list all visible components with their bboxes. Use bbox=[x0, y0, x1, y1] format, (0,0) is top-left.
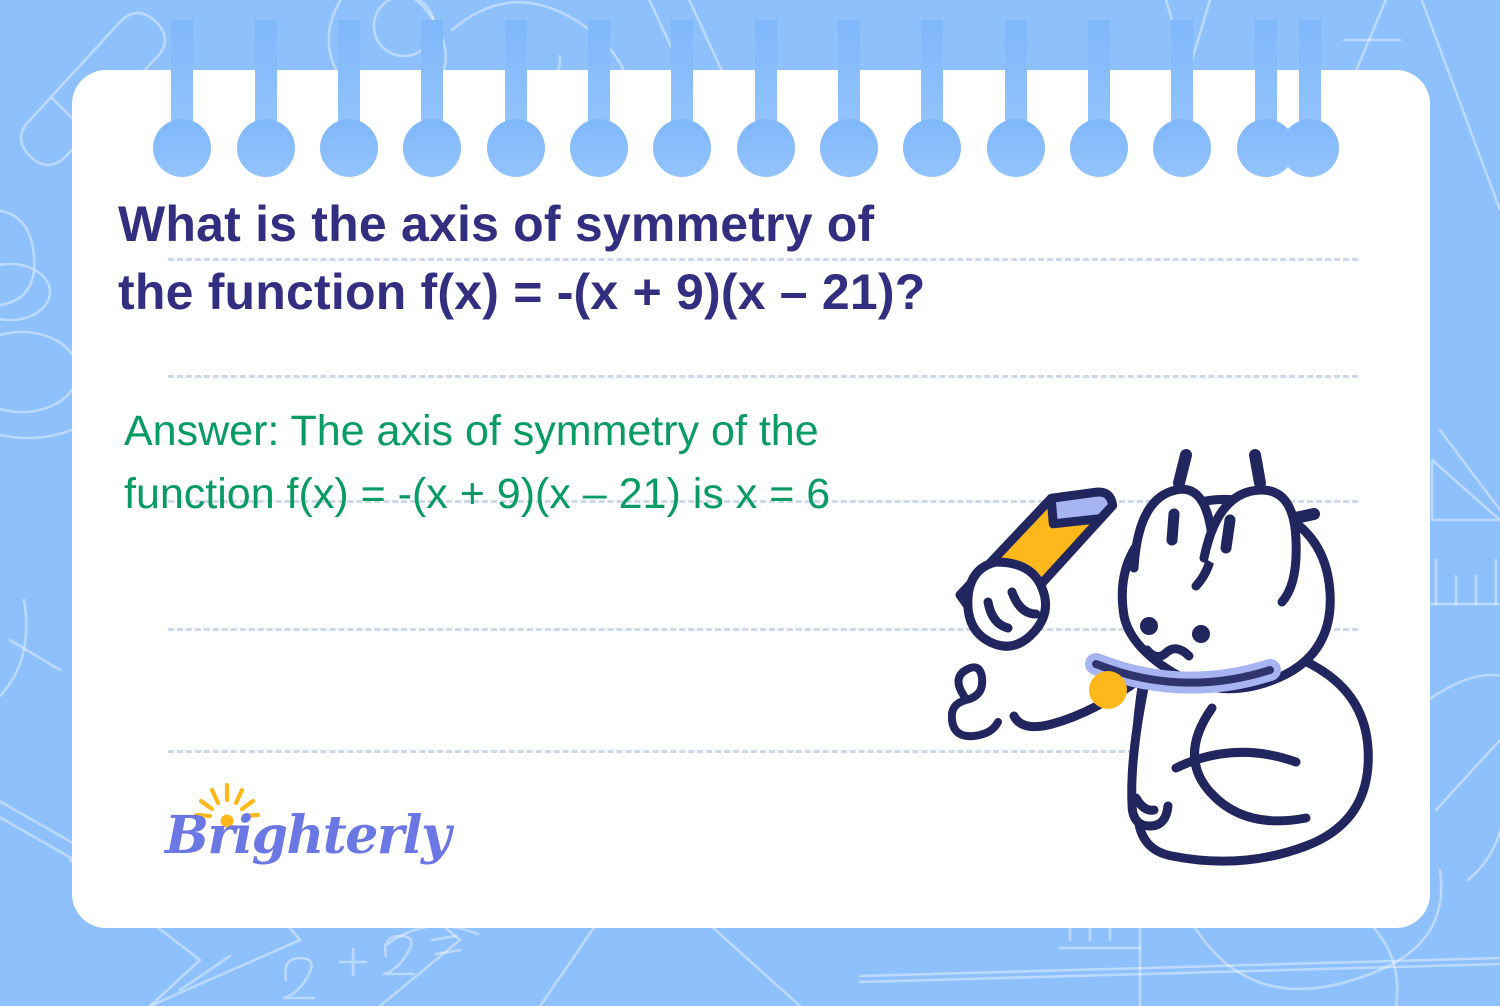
screenshot-root: What is the axis of symmetry of the func… bbox=[0, 0, 1500, 1006]
mascot-ear-tick-right bbox=[1226, 520, 1230, 548]
rule-line bbox=[168, 375, 1358, 378]
mascot-eye-left bbox=[1140, 617, 1158, 635]
spark-tick bbox=[1255, 455, 1260, 483]
brighterly-logo[interactable]: Brighterly bbox=[165, 783, 395, 878]
question-text: What is the axis of symmetry of the func… bbox=[118, 190, 1208, 326]
pencil-squiggle bbox=[952, 667, 998, 736]
mascot-bell bbox=[1089, 671, 1127, 709]
mascot-eye-right bbox=[1192, 625, 1210, 643]
spark-tick bbox=[1179, 455, 1186, 483]
cat-mascot-with-pencil bbox=[948, 438, 1408, 898]
mascot-paw bbox=[968, 562, 1046, 646]
logo-wordmark: Brighterly bbox=[165, 805, 450, 866]
mascot-ear-tick-left bbox=[1172, 514, 1174, 540]
